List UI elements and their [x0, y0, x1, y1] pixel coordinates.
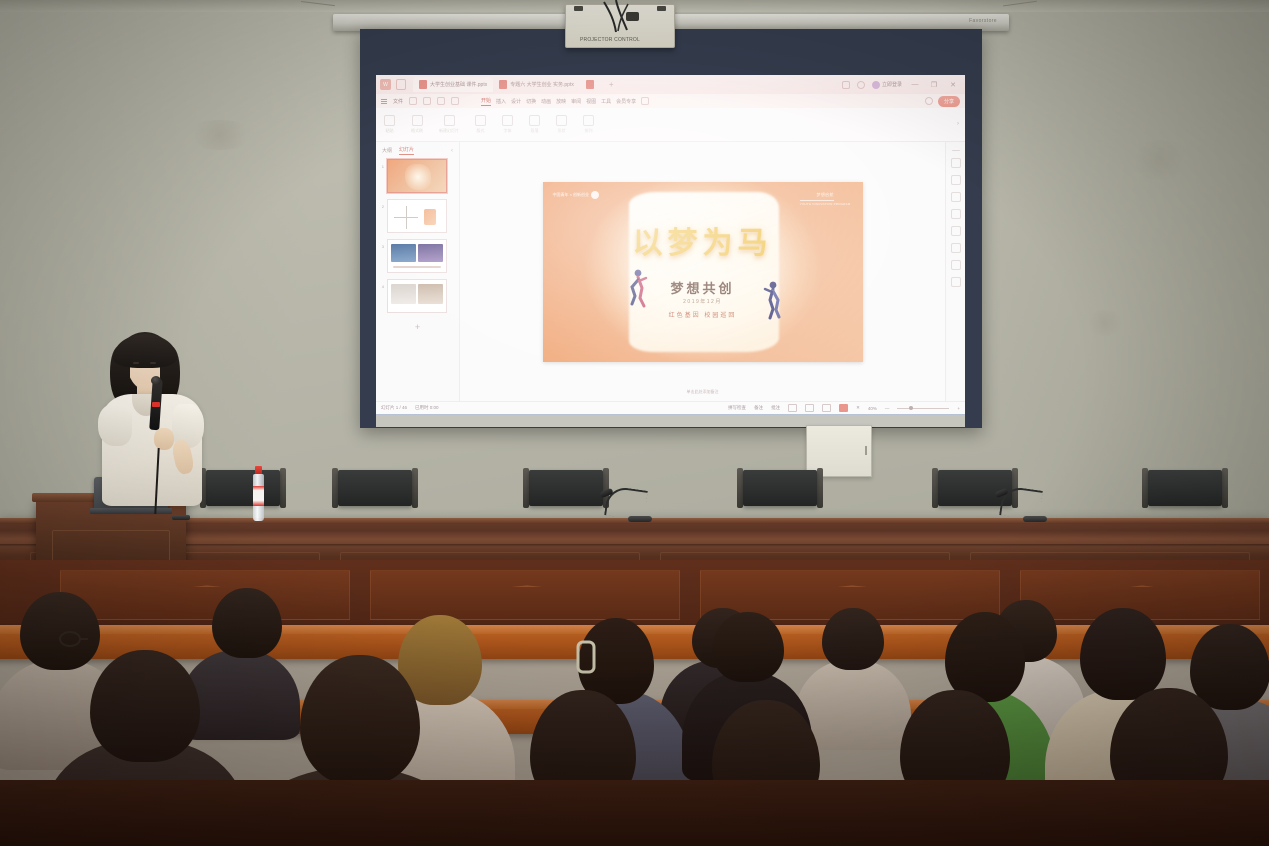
- chair-arm-right: [280, 468, 286, 508]
- thumbnail-photo: [418, 284, 443, 304]
- divider-icon: [952, 150, 960, 151]
- ribbon-group-label: 形状: [558, 128, 566, 134]
- thumbnail-preview-4[interactable]: [387, 279, 447, 313]
- new-document-icon[interactable]: [396, 79, 406, 90]
- status-word-count: 已用时 0:00: [415, 405, 439, 411]
- save-icon[interactable]: [409, 97, 417, 105]
- paragraph-icon: [529, 115, 540, 126]
- minimize-button[interactable]: —: [909, 81, 921, 88]
- slide-thumbnail-pane: 大纲 幻灯片 ‹ 1 2: [376, 142, 460, 401]
- slideshow-view-button[interactable]: [839, 404, 848, 412]
- tab-design[interactable]: 设计: [511, 98, 521, 105]
- pptx-file-icon: [499, 80, 507, 89]
- student-glasses-icon: [58, 630, 98, 648]
- ribbon-group-label: 段落: [531, 128, 539, 134]
- zoom-level-label[interactable]: 40%: [868, 406, 877, 411]
- layout-icon[interactable]: [951, 260, 961, 270]
- zoom-slider[interactable]: [897, 408, 949, 409]
- table-icon[interactable]: [951, 226, 961, 236]
- ribbon-group-font[interactable]: 字体: [502, 115, 513, 134]
- notes-placeholder[interactable]: 单击此处添加备注: [687, 389, 719, 395]
- tab-slides[interactable]: 幻灯片: [399, 146, 414, 155]
- document-tab[interactable]: 大学生创业基础 课件.pptx: [413, 77, 493, 92]
- student-hair-clip-icon: [572, 640, 602, 676]
- tab-transition[interactable]: 切换: [526, 98, 536, 105]
- close-button[interactable]: ✕: [947, 81, 959, 89]
- effects-icon[interactable]: [951, 243, 961, 253]
- thumbnail-pane-tabs: 大纲 幻灯片 ‹: [376, 142, 459, 157]
- reading-view-button[interactable]: [822, 404, 831, 412]
- projector-foot-left: [574, 6, 583, 11]
- arrange-icon: [583, 115, 594, 126]
- add-slide-button[interactable]: +: [379, 319, 456, 337]
- projector-foot-right: [657, 6, 666, 11]
- projection-surface: W 大学生创业基础 课件.pptx 专题六 大学生创业 实务.pptx +: [376, 75, 965, 415]
- thumbnail-preview-2[interactable]: [387, 199, 447, 233]
- projector-box-label: PROJECTOR CONTROL: [580, 37, 640, 43]
- tab-outline[interactable]: 大纲: [382, 147, 392, 154]
- slide-figure-right-icon: [763, 280, 783, 320]
- app-ribbon: 粘贴 格式刷 新建幻灯片 版式: [376, 108, 965, 142]
- pptx-file-icon: [419, 80, 427, 89]
- clipboard-icon[interactable]: [842, 81, 850, 89]
- new-slide-icon: [444, 115, 455, 126]
- format-painter-icon: [412, 115, 423, 126]
- thumbnail-item[interactable]: 1: [379, 159, 456, 193]
- student-head: [90, 650, 200, 762]
- thumbnail-preview-1[interactable]: [387, 159, 447, 193]
- chair-arm-right: [412, 468, 418, 508]
- thumbnail-photo: [391, 244, 416, 262]
- panel-latch-icon: [865, 446, 867, 455]
- ribbon-group-label: 格式刷: [411, 128, 423, 134]
- student-head: [1080, 608, 1166, 700]
- slide-sorter-view-button[interactable]: [805, 404, 814, 412]
- chair-back: [1148, 470, 1222, 506]
- ribbon-group-shape[interactable]: 形状: [556, 115, 567, 134]
- chair-back: [743, 470, 817, 506]
- tab-start[interactable]: 开始: [481, 97, 491, 106]
- shape-icon: [556, 115, 567, 126]
- stage-chair: [1140, 466, 1230, 522]
- thumbnail-number: 3: [379, 239, 384, 249]
- collapse-ribbon-icon[interactable]: [925, 97, 933, 105]
- thumbnail-item[interactable]: 3: [379, 239, 456, 273]
- file-menu[interactable]: 文件: [393, 98, 403, 105]
- slide-logo-left: 中国青年 × 创新创业: [553, 191, 600, 199]
- tab-slideshow[interactable]: 放映: [556, 98, 566, 105]
- projector-control-box: PROJECTOR CONTROL: [565, 4, 675, 48]
- ribbon-group-label: 排列: [585, 128, 593, 134]
- stage-chair: [735, 466, 825, 522]
- star-icon[interactable]: [951, 192, 961, 202]
- slide-logo-left-text: 中国青年 × 创新创业: [553, 192, 590, 198]
- screen-bottom-strip: [376, 415, 965, 427]
- slide-date: 2019年12月: [543, 298, 863, 305]
- ribbon-group-layout[interactable]: 版式: [475, 115, 486, 134]
- chair-arm-right: [817, 468, 823, 508]
- presenter-sleeve-left: [98, 404, 132, 446]
- status-notes[interactable]: 备注: [754, 405, 763, 411]
- document-tab-label: 专题六 大学生创业 实务.pptx: [510, 81, 574, 88]
- undo-icon[interactable]: [437, 97, 445, 105]
- format-icon[interactable]: [951, 158, 961, 168]
- chart-axis-v: [406, 206, 407, 229]
- print-icon[interactable]: [423, 97, 431, 105]
- desk-microphone: [995, 482, 1051, 522]
- chair-back: [338, 470, 412, 506]
- ribbon-tab-strip: 开始 插入 设计 切换 动画 放映 审阅 视图 工具 会员专享: [481, 97, 649, 106]
- zoom-in-button[interactable]: +: [957, 406, 960, 411]
- shape-icon[interactable]: [951, 175, 961, 185]
- student-head: [212, 588, 282, 658]
- slide-logo-right-line1: 梦想启航: [800, 192, 851, 198]
- search-icon[interactable]: [641, 97, 649, 105]
- slide-logo-divider: [800, 200, 834, 201]
- app-body: 大纲 幻灯片 ‹ 1 2: [376, 142, 965, 401]
- lecture-hall-scene: Favorstore PROJECTOR CONTROL W 大学生创业基础 课…: [0, 0, 1269, 846]
- wps-logo-icon: W: [380, 79, 391, 90]
- roller-brand-label: Favorstore: [969, 18, 997, 24]
- slide-figure-left-icon: [629, 268, 649, 308]
- ribbon-group-label: 字体: [504, 128, 512, 134]
- thumbnail-list: 1 2: [376, 157, 459, 401]
- presenter-hand: [154, 428, 174, 450]
- thumbnail-caption-bar: [393, 266, 441, 268]
- new-tab-button[interactable]: +: [609, 80, 614, 89]
- status-spellcheck[interactable]: 拼写检查: [728, 405, 746, 411]
- collapse-pane-icon[interactable]: ‹: [451, 148, 453, 154]
- wall-blemish: [1085, 310, 1125, 336]
- slide-footer: 红色基因 校园巡回: [543, 310, 863, 319]
- current-slide[interactable]: 中国青年 × 创新创业 梦想启航 YOUTH INNOVATION PROGRA…: [543, 182, 863, 362]
- presenter-speaking: [88, 332, 218, 522]
- document-tab-label: 大学生创业基础 课件.pptx: [430, 81, 487, 88]
- wall-wood-panel: [60, 570, 350, 620]
- desk-microphone: [600, 482, 656, 522]
- tab-animation[interactable]: 动画: [541, 98, 551, 105]
- wps-office-window: W 大学生创业基础 课件.pptx 专题六 大学生创业 实务.pptx +: [376, 75, 965, 415]
- account-label: 立即登录: [882, 81, 902, 88]
- microphone-indicator: [152, 402, 160, 407]
- ribbon-group-new-slide[interactable]: 新建幻灯片: [439, 115, 459, 134]
- ribbon-group-paragraph[interactable]: 段落: [529, 115, 540, 134]
- thumbnail-number: 1: [379, 159, 384, 169]
- thumbnail-number: 2: [379, 199, 384, 209]
- ribbon-group-paste[interactable]: 粘贴: [384, 115, 395, 134]
- avatar: [872, 81, 880, 89]
- student-head: [712, 612, 784, 682]
- stage-chair: [521, 466, 611, 522]
- font-icon: [502, 115, 513, 126]
- thumbnail-photo: [418, 244, 443, 262]
- presenter-eye-left: [133, 362, 139, 364]
- student-head: [1190, 624, 1269, 710]
- document-tab[interactable]: [580, 77, 603, 92]
- microphone-base: [1023, 516, 1047, 522]
- slide-logo-badge-icon: [591, 191, 599, 199]
- menu-hamburger-icon[interactable]: [381, 99, 387, 104]
- thumbnail-item[interactable]: 2: [379, 199, 456, 233]
- app-titlebar: W 大学生创业基础 课件.pptx 专题六 大学生创业 实务.pptx +: [376, 75, 965, 94]
- slide-logo-right-line2: YOUTH INNOVATION PROGRAM: [800, 202, 851, 206]
- stage-chair: [330, 466, 420, 522]
- tab-review[interactable]: 审阅: [571, 98, 581, 105]
- status-comment[interactable]: 批注: [771, 405, 780, 411]
- menubar-right: 分享: [925, 96, 960, 107]
- student-head: [822, 608, 884, 670]
- ribbon-group-format-painter[interactable]: 格式刷: [411, 115, 423, 134]
- layout-icon: [475, 115, 486, 126]
- ribbon-group-label: 新建幻灯片: [439, 128, 459, 134]
- slide-scroll-graphic: [629, 192, 779, 352]
- ribbon-group-arrange[interactable]: 排列: [583, 115, 594, 134]
- microphone-base: [628, 516, 652, 522]
- student-head: [300, 655, 420, 785]
- tab-member[interactable]: 会员专享: [616, 98, 636, 105]
- thumbnail-photo: [391, 284, 416, 304]
- water-bottle: [253, 466, 264, 521]
- thumbnail-number: 4: [379, 279, 384, 289]
- slide-logo-right: 梦想启航 YOUTH INNOVATION PROGRAM: [800, 192, 851, 206]
- fit-to-window-icon[interactable]: ✕: [856, 405, 860, 411]
- podium-groove: [0, 544, 1269, 547]
- status-page-info: 幻灯片 1 / 46: [381, 405, 407, 411]
- chevron-right-icon[interactable]: ›: [957, 121, 959, 127]
- restore-button[interactable]: ❐: [928, 81, 940, 89]
- wall-wood-panel: [370, 570, 680, 620]
- tab-insert[interactable]: 插入: [496, 98, 506, 105]
- wall-blemish: [1130, 140, 1190, 180]
- right-tool-rail: [945, 142, 965, 401]
- presenter-hair-front: [113, 334, 177, 368]
- ribbon-group-label: 粘贴: [386, 128, 394, 134]
- microphone-head-icon: [151, 376, 161, 385]
- app-menubar: 文件 开始 插入 设计 切换 动画 放映 审阅 视图 工具: [376, 94, 965, 108]
- bottle-label: [253, 486, 264, 506]
- slide-canvas-pane[interactable]: 中国青年 × 创新创业 梦想启航 YOUTH INNOVATION PROGRA…: [460, 142, 945, 401]
- picture-icon[interactable]: [951, 209, 961, 219]
- history-icon[interactable]: [857, 81, 865, 89]
- slide-hero-title: 以梦为马: [543, 218, 863, 262]
- thumbnail-preview-3[interactable]: [387, 239, 447, 273]
- presenter-eye-right: [150, 362, 156, 364]
- pptx-file-icon: [586, 80, 594, 89]
- tab-tools[interactable]: 工具: [601, 98, 611, 105]
- projector-cables-icon: [596, 0, 646, 34]
- tab-view[interactable]: 视图: [586, 98, 596, 105]
- app-status-bar: 幻灯片 1 / 46 已用时 0:00 拼写检查 备注 批注 ✕ 40% — +: [376, 401, 965, 414]
- titlebar-controls: 立即登录 — ❐ ✕: [842, 81, 961, 89]
- account-chip[interactable]: 立即登录: [872, 81, 902, 89]
- share-button[interactable]: 分享: [938, 96, 960, 107]
- thumbnail-item[interactable]: 4: [379, 279, 456, 313]
- normal-view-button[interactable]: [788, 404, 797, 412]
- zoom-out-button[interactable]: —: [885, 406, 890, 411]
- thumbnail-graphic: [424, 209, 436, 225]
- paste-icon: [384, 115, 395, 126]
- chair-back: [529, 470, 603, 506]
- media-icon[interactable]: [951, 277, 961, 287]
- ribbon-group-label: 版式: [477, 128, 485, 134]
- redo-icon[interactable]: [451, 97, 459, 105]
- hall-floor: [0, 780, 1269, 846]
- wall-blemish: [185, 120, 255, 150]
- projection-screen-frame: W 大学生创业基础 课件.pptx 专题六 大学生创业 实务.pptx +: [360, 29, 982, 428]
- student-head: [945, 612, 1025, 702]
- slide-subtitle: 梦想共创: [543, 278, 863, 297]
- chair-arm-right: [1222, 468, 1228, 508]
- document-tab[interactable]: 专题六 大学生创业 实务.pptx: [493, 77, 580, 92]
